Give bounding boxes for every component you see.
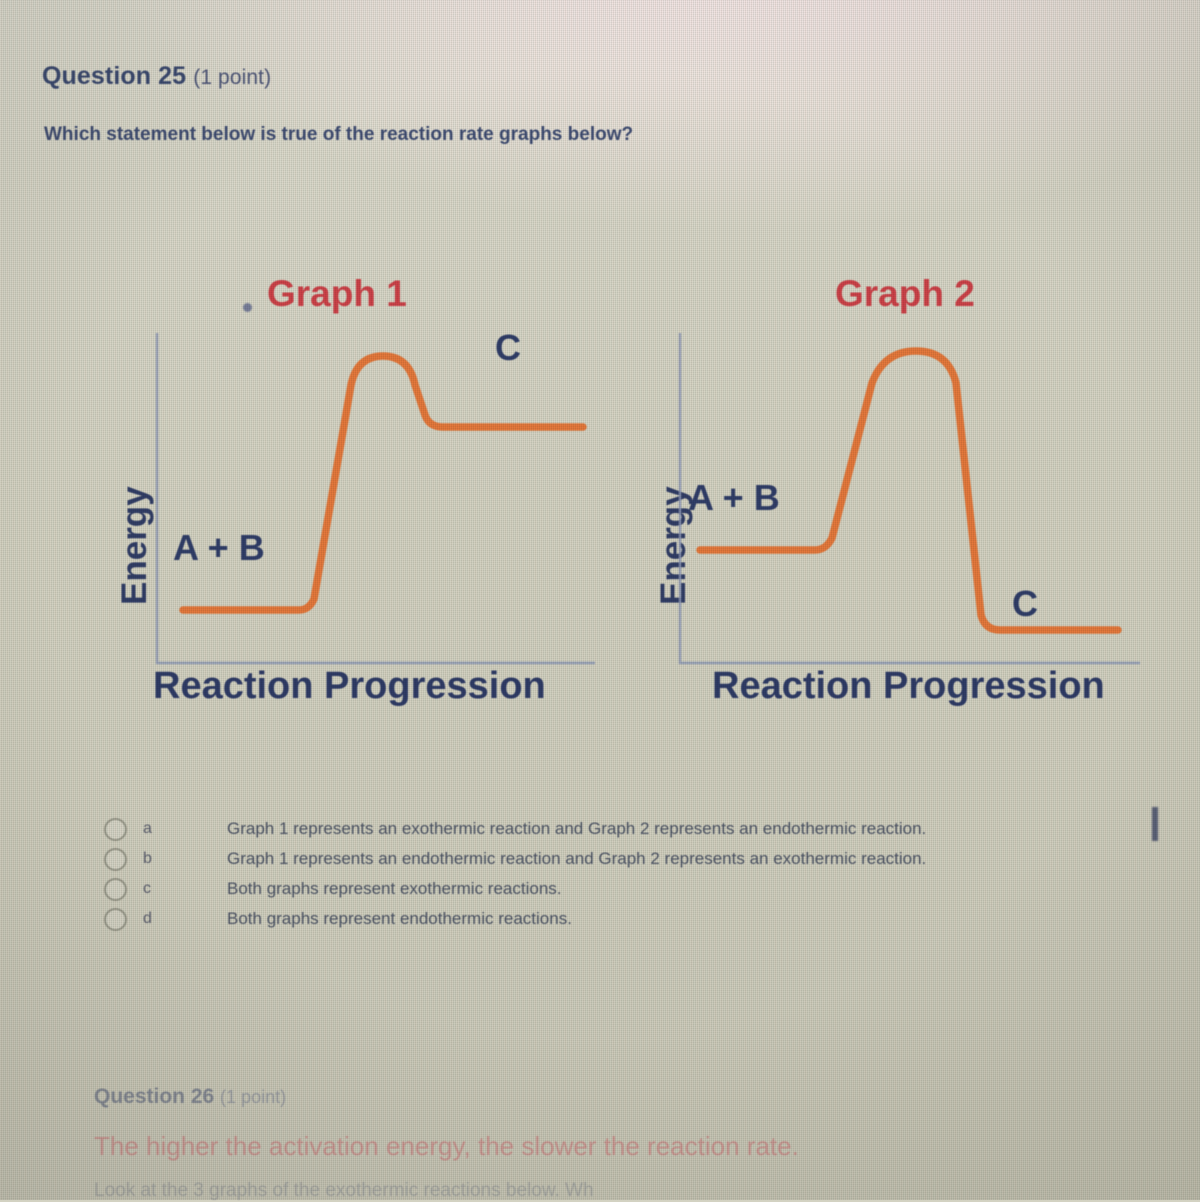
option-c-letter: c	[143, 880, 227, 898]
graph-1-reactant-label: A + B	[173, 527, 265, 569]
option-b-text: Graph 1 represents an endothermic reacti…	[227, 849, 926, 869]
question-prompt: Which statement below is true of the rea…	[44, 124, 633, 146]
option-b[interactable]: b Graph 1 represents an endothermic reac…	[104, 844, 1164, 874]
option-a[interactable]: a Graph 1 represents an exothermic react…	[104, 814, 1164, 844]
radio-button-d[interactable]	[104, 908, 127, 931]
option-c-text: Both graphs represent exothermic reactio…	[227, 879, 562, 899]
next-question-subtext: Look at the 3 graphs of the exothermic r…	[94, 1180, 1154, 1202]
next-question-statement: The higher the activation energy, the sl…	[94, 1131, 1154, 1162]
option-c[interactable]: c Both graphs represent exothermic react…	[104, 874, 1164, 904]
next-question-heading: Question 26 (1 point)	[94, 1085, 1154, 1109]
option-b-letter: b	[143, 850, 227, 868]
graph-2: Graph 2 Energy A + B C Reaction Progress…	[640, 255, 1170, 755]
graph-2-product-label: C	[1012, 583, 1038, 625]
page-content: Question 25 (1 point) Which statement be…	[0, 0, 1200, 1200]
option-a-letter: a	[143, 820, 227, 838]
graph-1-energy-curve	[183, 356, 583, 610]
question-points: (1 point)	[193, 66, 271, 89]
graph-2-reactant-label: A + B	[688, 477, 780, 519]
question-number: Question 25	[42, 62, 186, 90]
graph-1-x-axis-label: Reaction Progression	[153, 665, 546, 708]
graph-2-plot	[640, 255, 1170, 685]
graph-2-x-axis-label: Reaction Progression	[712, 665, 1105, 708]
radio-button-c[interactable]	[104, 878, 127, 901]
graph-1-product-label: C	[495, 327, 521, 369]
graph-1-plot	[95, 255, 625, 685]
option-d-letter: d	[143, 910, 227, 928]
radio-button-a[interactable]	[104, 818, 127, 841]
answer-options: a Graph 1 represents an exothermic react…	[104, 814, 1164, 934]
graph-1: Graph 1 Energy A + B C Reaction Progress…	[95, 255, 625, 755]
option-d-text: Both graphs represent endothermic reacti…	[227, 909, 572, 929]
question-heading: Question 25 (1 point)	[42, 62, 271, 91]
radio-button-b[interactable]	[104, 848, 127, 871]
reaction-energy-diagrams: Graph 1 Energy A + B C Reaction Progress…	[0, 255, 1200, 755]
next-question-points: (1 point)	[220, 1087, 286, 1107]
option-a-text: Graph 1 represents an exothermic reactio…	[227, 819, 926, 839]
next-question-number: Question 26	[94, 1085, 214, 1108]
next-question-block: Question 26 (1 point) The higher the act…	[94, 1085, 1154, 1202]
option-d[interactable]: d Both graphs represent endothermic reac…	[104, 904, 1164, 934]
